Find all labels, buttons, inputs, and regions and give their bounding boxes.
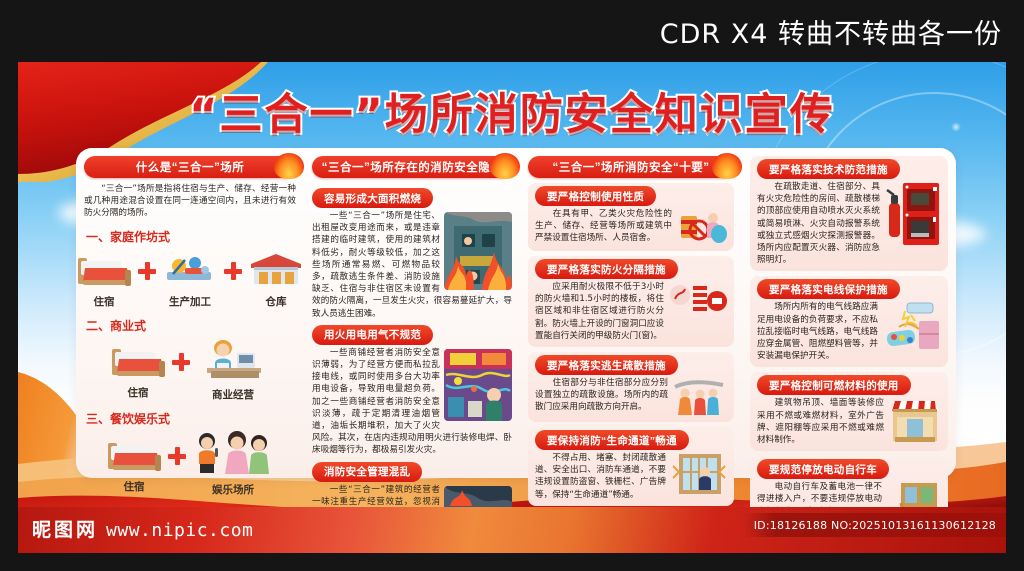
must-pill: 要保持消防“生命通道”畅通 — [535, 430, 689, 450]
plus-icon — [172, 353, 190, 371]
figure-caption: 住宿 — [105, 479, 163, 494]
plus-icon — [168, 447, 186, 465]
column-what-is: 什么是“三合一”场所 “三合一”场所是指将住宿与生产、储存、经营一种或几种用途混… — [76, 148, 304, 478]
measure-item-2: 要严格落实电线保护措施 场所内所有的电气线路应满足用电设备的负荷要求，不应私拉乱… — [750, 276, 948, 367]
wiring-protection-icon — [883, 301, 941, 351]
subhead-entertainment: 三、餐饮娱乐式 — [86, 410, 296, 427]
warehouse-icon — [247, 248, 305, 288]
figure-caption: 住宿 — [75, 294, 133, 309]
must-item-3: 要严格落实逃生疏散措施 住宿部分与非住宿部分应分别设置独立的疏散设施。场所内的疏… — [528, 352, 734, 422]
measure-text: 场所内所有的电气线路应满足用电设备的负荷要求，不应私拉乱接临时电气线路，电气线路… — [757, 301, 878, 362]
figure-ktv-people: 娱乐场所 — [191, 430, 275, 497]
barred-window-icon — [671, 452, 727, 496]
machine-icon — [161, 248, 219, 288]
section-banner-label: “三合一”场所存在的消防安全隐患 — [322, 159, 503, 175]
fire-cabinet-icon — [885, 181, 941, 247]
poster-title: “三合一”场所消防安全知识宣传 — [18, 80, 1006, 142]
poster-canvas: “三合一”场所消防安全知识宣传 什么是“三合一”场所 “三合一”场所是指将住宿与… — [18, 62, 1006, 532]
measure-pill: 要严格落实技术防范措施 — [757, 159, 900, 179]
figure-caption: 娱乐场所 — [191, 482, 275, 497]
must-pill: 要严格落实逃生疏散措施 — [535, 355, 678, 375]
column-ten-musts: “三合一”场所消防安全“十要” 要严格控制使用性质 在具有甲、乙类火灾危险性的生… — [520, 148, 742, 478]
hazard-block-1: 容易形成大面积燃烧 — [312, 183, 512, 320]
section-banner-what-is: 什么是“三合一”场所 — [84, 156, 296, 178]
measure-item-1: 要严格落实技术防范措施 在疏散走道、住宿部分、具有火灾危险性的房间、疏散楼梯的顶… — [750, 156, 948, 271]
no-flammable-storage-icon — [677, 208, 727, 246]
must-pill: 要严格落实防火分隔措施 — [535, 259, 678, 279]
measure-item-3: 要严格控制可燃材料的使用 建筑物吊顶、墙面等装修应采用不燃或难燃材料，室外广告牌… — [750, 372, 948, 451]
intro-text: “三合一”场所是指将住宿与生产、储存、经营一种或几种用途混合设置在同一连通空间内… — [84, 184, 296, 218]
figure-bed: 住宿 — [75, 248, 133, 309]
poster-title-text: “三合一”场所消防安全知识宣传 — [189, 80, 835, 142]
must-text: 在具有甲、乙类火灾危险性的生产、储存、经营等场所或建筑中严禁设置住宿场所、人员宿… — [535, 208, 672, 245]
bed-icon — [105, 433, 163, 473]
column-hazards: “三合一”场所存在的消防安全隐患 容易形成大面积燃烧 — [304, 148, 520, 478]
hazard-pill: 消防安全管理混乱 — [312, 462, 422, 482]
section-banner-ten-musts: “三合一”场所消防安全“十要” — [528, 156, 734, 178]
figure-bed: 住宿 — [109, 339, 167, 400]
content-card: 什么是“三合一”场所 “三合一”场所是指将住宿与生产、储存、经营一种或几种用途混… — [76, 148, 956, 478]
watermark-brand-cn: 昵图网 — [32, 515, 98, 542]
must-text: 住宿部分与非住宿部分应分别设置独立的疏散设施。场所内的疏散门应采用向疏散方向开启… — [535, 377, 668, 414]
figure-caption: 商业经营 — [195, 387, 271, 402]
must-item-4: 要保持消防“生命通道”畅通 不得占用、堵塞、封闭疏散通道、安全出口、消防车通道，… — [528, 427, 734, 506]
must-pill: 要严格控制使用性质 — [535, 186, 656, 206]
must-item-1: 要严格控制使用性质 在具有甲、乙类火灾危险性的生产、储存、经营等场所或建筑中严禁… — [528, 183, 734, 251]
screenshot-root: CDR X4 转曲不转曲各一份 — [0, 0, 1024, 571]
flame-icon — [274, 153, 304, 179]
plus-icon — [224, 262, 242, 280]
fire-partition-icon — [669, 281, 727, 323]
figure-production: 生产加工 — [161, 248, 219, 309]
figure-caption: 仓库 — [247, 294, 305, 309]
figure-row-entertainment: 住宿 娱乐场所 — [84, 430, 296, 497]
figure-caption: 住宿 — [109, 385, 167, 400]
section-banner-label: 什么是“三合一”场所 — [136, 159, 245, 175]
figure-bed: 住宿 — [105, 433, 163, 494]
subhead-family-workshop: 一、家庭作坊式 — [86, 228, 296, 245]
awning-shop-icon — [889, 397, 941, 443]
cashier-icon — [195, 337, 271, 381]
burning-building-icon — [444, 212, 512, 290]
measure-pill: 要严格落实电线保护措施 — [757, 279, 900, 299]
figure-warehouse: 仓库 — [247, 248, 305, 309]
subhead-commercial: 二、商业式 — [86, 317, 296, 334]
measure-text: 在疏散走道、住宿部分、具有火灾危险性的房间、疏散楼梯的顶部应使用自动喷水灭火系统… — [757, 181, 880, 266]
hazard-pill: 用火用电用气不规范 — [312, 325, 433, 345]
bed-icon — [109, 339, 167, 379]
cdr-label: CDR X4 转曲不转曲各一份 — [660, 12, 1024, 51]
bed-icon — [75, 248, 133, 288]
top-bar: CDR X4 转曲不转曲各一份 — [0, 0, 1024, 62]
intro-paragraph: “三合一”场所是指将住宿与生产、储存、经营一种或几种用途混合设置在同一连通空间内… — [84, 183, 296, 220]
messy-wiring-shop-icon — [444, 349, 512, 421]
asset-id-badge: ID:18126188 NO:20251013161130612128 — [744, 513, 1006, 537]
hazard-block-2: 用火用电用气不规范 — [312, 320, 512, 457]
must-item-2: 要严格落实防火分隔措施 应采用耐火极限不低于3小时的防火墙和1.5小时的楼板，将… — [528, 256, 734, 347]
footer-watermark-bar: 昵图网 www.nipic.com ID:18126188 NO:2025101… — [18, 507, 1006, 553]
figure-row-commercial: 住宿 商业经营 — [84, 337, 296, 402]
measure-text: 建筑物吊顶、墙面等装修应采用不燃或难燃材料，室外广告牌、遮阳棚等应采用不燃或难燃… — [757, 397, 884, 446]
measure-pill: 要规范停放电动自行车 — [757, 459, 889, 479]
flame-icon — [712, 153, 742, 179]
must-text: 应采用耐火极限不低于3小时的防火墙和1.5小时的楼板，将住宿区域和非住宿区域进行… — [535, 281, 664, 342]
measure-pill: 要严格控制可燃材料的使用 — [757, 375, 911, 395]
watermark: 昵图网 www.nipic.com — [32, 515, 253, 542]
plus-icon — [138, 262, 156, 280]
hazard-pill: 容易形成大面积燃烧 — [312, 188, 433, 208]
must-text: 不得占用、堵塞、封闭疏散通道、安全出口、消防车通道，不要违规设置防盗窗、铁栅栏、… — [535, 452, 666, 501]
section-banner-hazards: “三合一”场所存在的消防安全隐患 — [312, 156, 512, 178]
section-banner-label: “三合一”场所消防安全“十要” — [553, 159, 710, 175]
figure-caption: 生产加工 — [161, 294, 219, 309]
column-technical-measures: 要严格落实技术防范措施 在疏散走道、住宿部分、具有火灾危险性的房间、疏散楼梯的顶… — [742, 148, 956, 478]
singing-people-icon — [191, 430, 275, 476]
figure-shop-clerk: 商业经营 — [195, 337, 271, 402]
evacuation-icon — [673, 377, 727, 417]
figure-row-family: 住宿 生产加工 — [84, 248, 296, 309]
watermark-url: www.nipic.com — [106, 520, 253, 541]
